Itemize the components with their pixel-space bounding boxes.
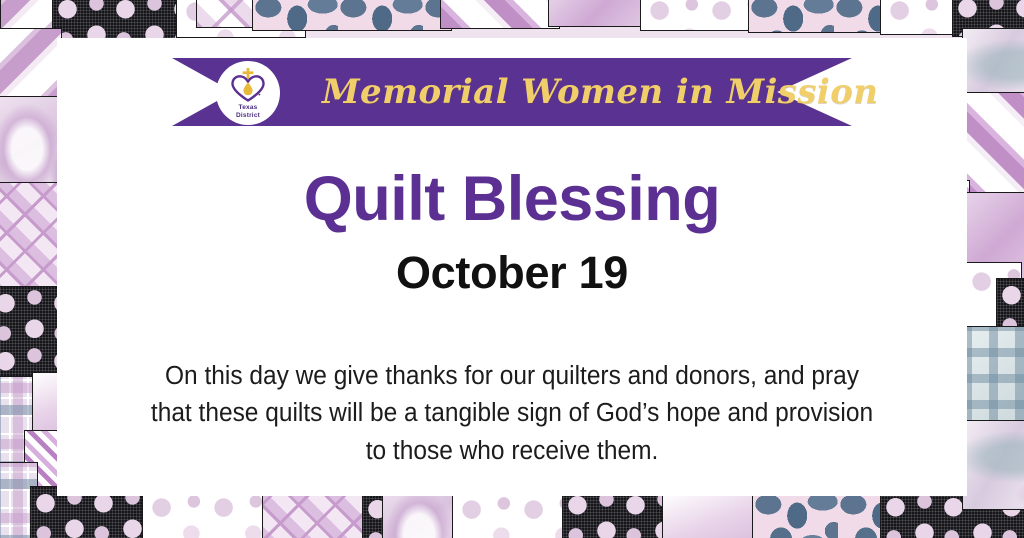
quilt-patch-dots-black xyxy=(52,0,182,40)
page-title: Quilt Blessing xyxy=(57,168,967,231)
poster-canvas: Texas District Memorial Women in Mission… xyxy=(0,0,1024,538)
ribbon-banner: Texas District Memorial Women in Mission xyxy=(172,58,852,126)
quilt-patch-stripe-right xyxy=(962,92,1024,200)
quilt-patch-floral-left xyxy=(0,96,60,192)
quilt-patch-dots-white-2 xyxy=(640,0,760,31)
logo-text-line1: Texas xyxy=(239,104,258,111)
quilt-patch-leopard xyxy=(252,0,452,31)
logo-text-line2: District xyxy=(236,112,260,119)
texas-district-logo: Texas District xyxy=(216,61,280,125)
quilt-patch-dots-white-b2 xyxy=(452,490,572,538)
quilt-patch-watercolor-r xyxy=(962,28,1024,100)
logo-text: Texas District xyxy=(236,104,260,119)
quilt-patch-dots-black-l xyxy=(0,286,60,384)
body-paragraph: On this day we give thanks for our quilt… xyxy=(145,358,878,470)
quilt-patch-leopard-2 xyxy=(748,0,898,33)
quilt-patch-stripe-diag2 xyxy=(440,0,560,29)
banner-title: Memorial Women in Mission xyxy=(322,72,878,112)
quilt-patch-watercolor-r2 xyxy=(962,420,1024,510)
quilt-patch-diamond-left xyxy=(0,182,60,294)
quilt-patch-pinkwash-b xyxy=(662,492,762,538)
heart-cross-droplet-icon xyxy=(228,66,268,106)
event-date: October 19 xyxy=(57,250,967,295)
